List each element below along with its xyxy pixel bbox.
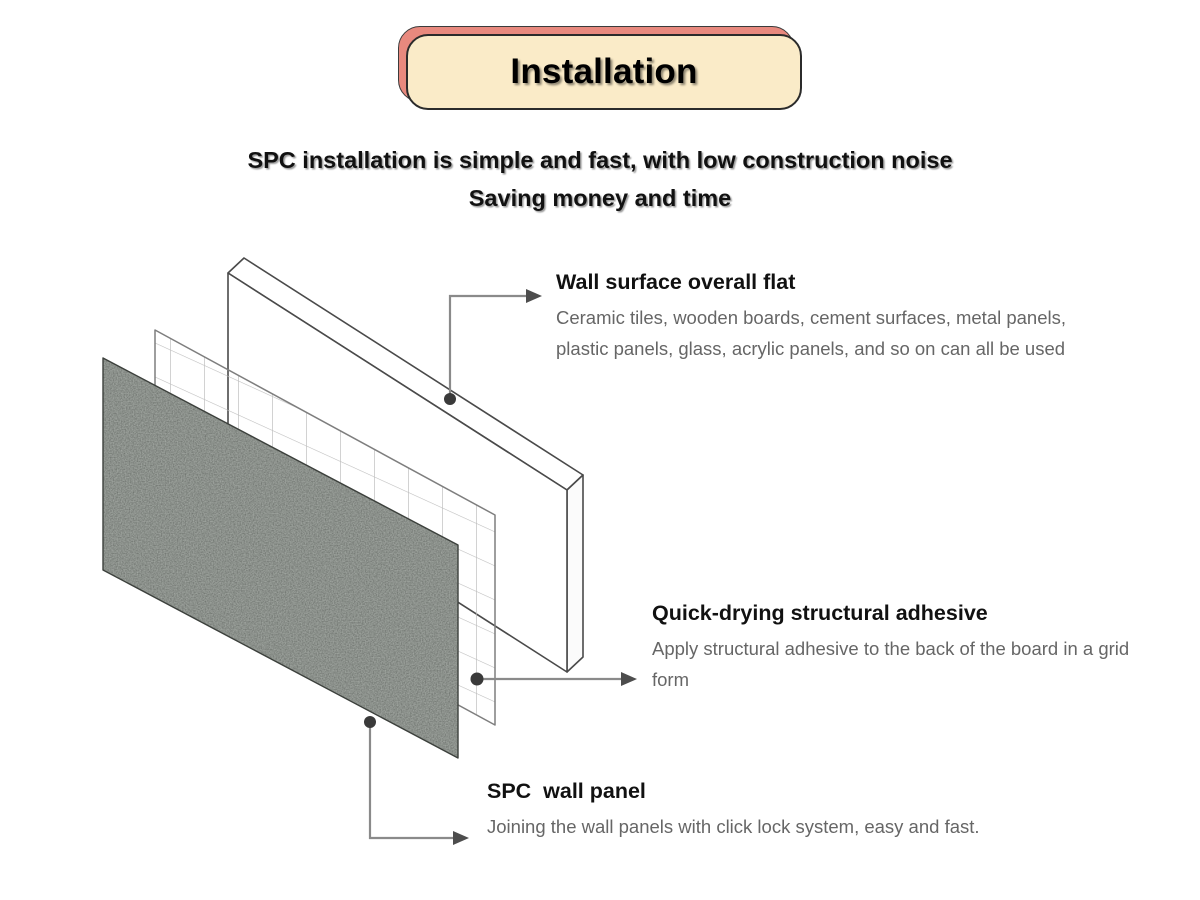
callout-spc-wall-panel: SPC wall panel Joining the wall panels w…: [487, 779, 1007, 842]
callout-spc-wall-panel-title: SPC wall panel: [487, 779, 1007, 804]
callout-adhesive: Quick-drying structural adhesive Apply s…: [652, 601, 1157, 695]
leader-adhesive-dot: [471, 673, 484, 686]
callout-wall-surface: Wall surface overall flat Ceramic tiles,…: [556, 270, 1066, 364]
leader-adhesive-arrow: [621, 672, 637, 686]
wall-slab-end-face: [567, 475, 583, 672]
leader-wall-surface-arrow: [526, 289, 542, 303]
callout-wall-surface-body: Ceramic tiles, wooden boards, cement sur…: [556, 302, 1066, 364]
leader-wall-surface: [450, 296, 528, 399]
leader-spc-panel-arrow: [453, 831, 469, 845]
callout-adhesive-title: Quick-drying structural adhesive: [652, 601, 1157, 626]
leader-wall-surface-dot: [444, 393, 456, 405]
exploded-layer-diagram: [0, 0, 1200, 900]
leader-spc-panel-dot: [364, 716, 376, 728]
callout-wall-surface-title: Wall surface overall flat: [556, 270, 1066, 295]
callout-adhesive-body: Apply structural adhesive to the back of…: [652, 633, 1157, 695]
callout-spc-wall-panel-body: Joining the wall panels with click lock …: [487, 811, 1007, 842]
